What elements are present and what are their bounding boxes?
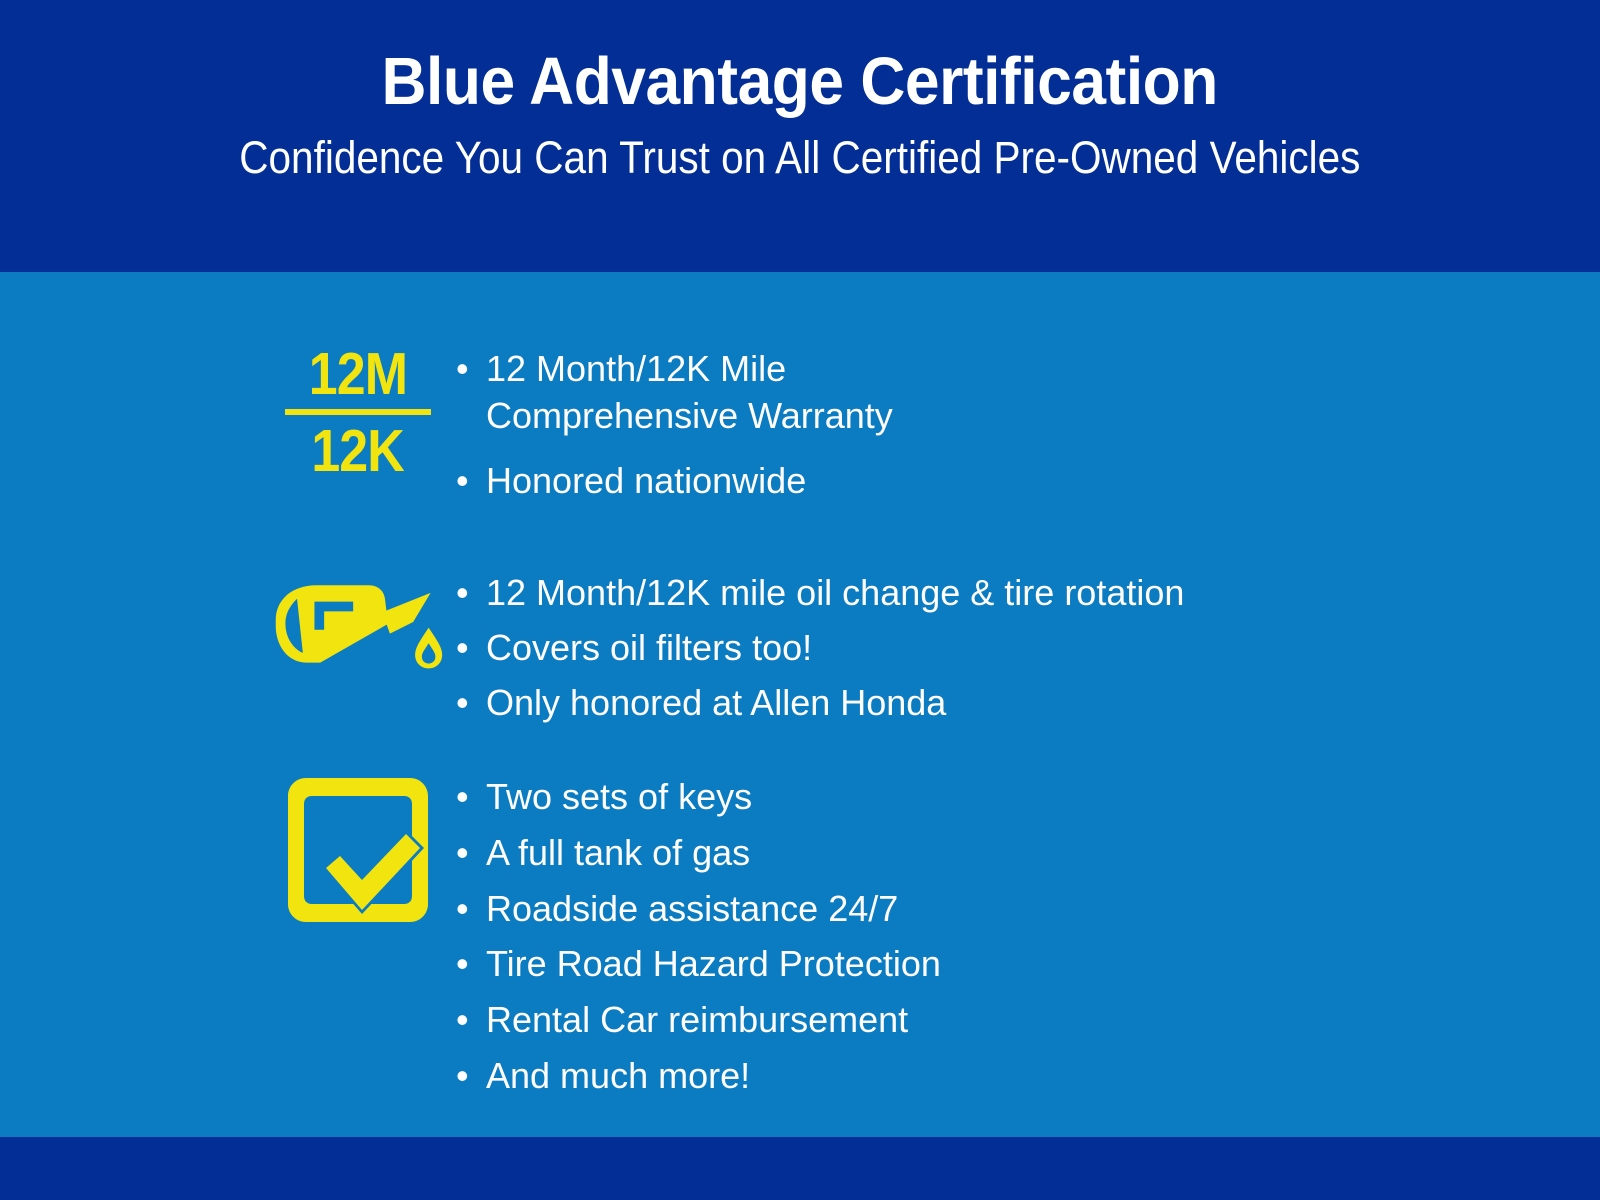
fraction-numerator-label: 12M — [309, 344, 407, 404]
twelve-month-twelve-k-fraction-icon: 12M 12K — [282, 344, 434, 481]
list-item: Roadside assistance 24/7 — [448, 886, 941, 933]
feature-maintenance-list: 12 Month/12K mile oil change & tire rota… — [448, 570, 1184, 734]
fraction-divider-rule — [285, 409, 431, 415]
list-item: A full tank of gas — [448, 830, 941, 877]
feature-extras-icon-slot — [268, 772, 448, 928]
clipboard-checkmark-icon — [278, 772, 438, 928]
feature-extras-list: Two sets of keys A full tank of gas Road… — [448, 774, 941, 1109]
header-banner: Blue Advantage Certification Confidence … — [0, 0, 1600, 272]
features-section: 12M 12K 12 Month/12K Mile Comprehensive … — [0, 272, 1600, 1137]
list-item: Two sets of keys — [448, 774, 941, 821]
page-subtitle: Confidence You Can Trust on All Certifie… — [239, 135, 1360, 180]
list-item: Rental Car reimbursement — [448, 997, 941, 1044]
feature-maintenance-icon-slot — [268, 568, 448, 674]
list-item: Only honored at Allen Honda — [448, 680, 1184, 727]
feature-extras: Two sets of keys A full tank of gas Road… — [268, 772, 941, 1109]
list-item: Honored nationwide — [448, 458, 893, 505]
list-item: Tire Road Hazard Protection — [448, 941, 941, 988]
feature-warranty-list: 12 Month/12K Mile Comprehensive Warranty… — [448, 346, 893, 522]
footer-bar — [0, 1137, 1600, 1200]
list-item: And much more! — [448, 1053, 941, 1100]
feature-warranty: 12M 12K 12 Month/12K Mile Comprehensive … — [268, 344, 893, 522]
blue-advantage-certification-poster: Blue Advantage Certification Confidence … — [0, 0, 1600, 1200]
feature-maintenance: 12 Month/12K mile oil change & tire rota… — [268, 568, 1184, 734]
list-item: Covers oil filters too! — [448, 625, 1184, 672]
page-title: Blue Advantage Certification — [382, 48, 1218, 115]
list-item: 12 Month/12K Mile Comprehensive Warranty — [448, 346, 893, 440]
feature-warranty-icon-slot: 12M 12K — [268, 344, 448, 481]
fraction-denominator-label: 12K — [312, 421, 405, 481]
oil-can-icon — [268, 568, 448, 674]
list-item: 12 Month/12K mile oil change & tire rota… — [448, 570, 1184, 617]
